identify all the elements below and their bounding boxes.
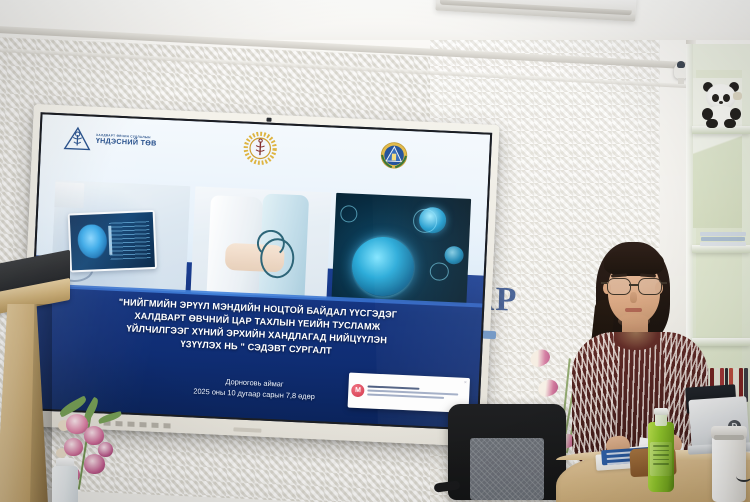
white-travel-tumbler bbox=[712, 426, 746, 502]
power-cable bbox=[736, 470, 750, 482]
chin bbox=[618, 314, 650, 328]
blouse-collar bbox=[614, 332, 658, 350]
display-brand-mark bbox=[234, 427, 262, 432]
triangle-caduceus-icon bbox=[63, 125, 92, 151]
presentation-room-photo: AP bbox=[0, 0, 750, 502]
national-center-logo: ХАЛДВАРТ ӨВЧИН СУДЛАЛЫН ҮНДЭСНИЙ ТӨВ bbox=[63, 125, 157, 154]
chair-mesh-panel bbox=[470, 438, 544, 500]
nose bbox=[630, 292, 637, 303]
notification-avatar: M bbox=[351, 384, 365, 398]
display-side-tag bbox=[482, 331, 496, 340]
virus-particles-photo bbox=[331, 192, 471, 304]
blue-triangle-wreath-emblem-icon bbox=[376, 137, 412, 173]
slide-photo-strip bbox=[50, 180, 471, 305]
sun-caduceus-emblem-icon bbox=[242, 130, 278, 166]
panda-plush-toy bbox=[700, 84, 742, 128]
green-beverage-bottle bbox=[648, 408, 674, 492]
logo-title: ҮНДЭСНИЙ ТӨВ bbox=[96, 137, 157, 147]
hair-fringe bbox=[604, 248, 664, 276]
display-sensor-icon bbox=[266, 118, 271, 122]
display-screen[interactable]: ХАЛДВАРТ ӨВЧИН СУДЛАЛЫН ҮНДЭСНИЙ ТӨВ bbox=[27, 112, 492, 430]
wall-mounted-display[interactable]: ХАЛДВАРТ ӨВЧИН СУДЛАЛЫН ҮНДЭСНИЙ ТӨВ bbox=[19, 104, 499, 447]
close-icon[interactable]: × bbox=[464, 380, 467, 386]
water-bottle bbox=[52, 466, 78, 502]
presentation-slide: ХАЛДВАРТ ӨВЧИН СУДЛАЛЫН ҮНДЭСНИЙ ТӨВ bbox=[29, 114, 490, 428]
tablet-medical-data-photo bbox=[50, 180, 190, 292]
doctors-stethoscope-photo bbox=[191, 186, 331, 298]
mouth bbox=[625, 308, 642, 312]
